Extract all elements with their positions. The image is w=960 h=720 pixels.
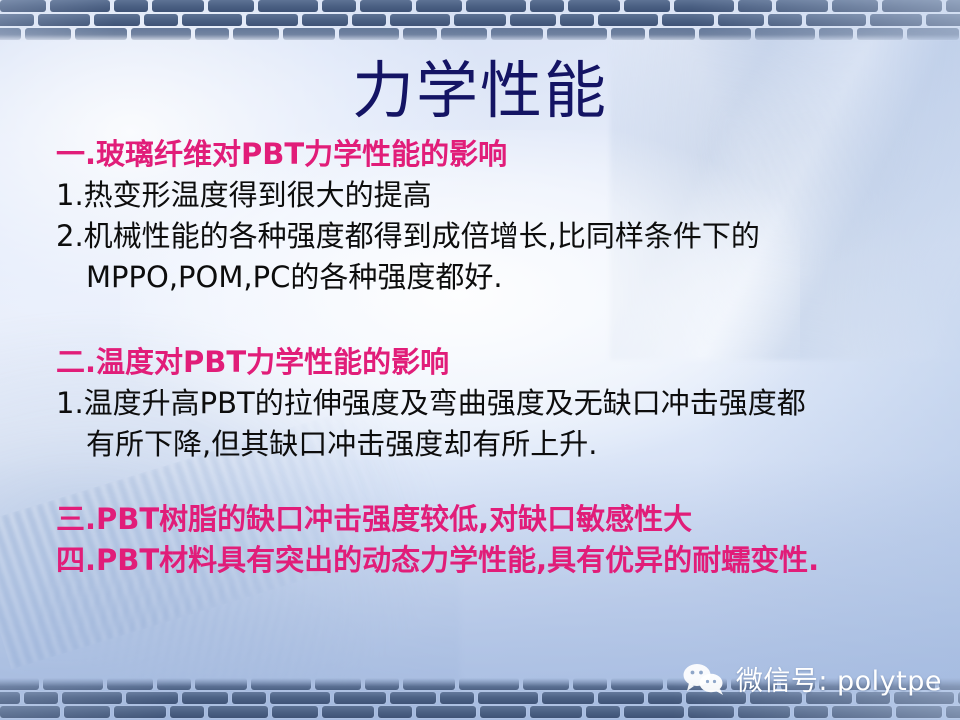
slide-content: 力学性能 一.玻璃纤维对PBT力学性能的影响 1.热变形温度得到很大的提高 2.… xyxy=(0,0,960,720)
section-1-item-1: 1.热变形温度得到很大的提高 xyxy=(56,175,936,216)
section-spacer xyxy=(56,298,936,342)
wechat-watermark: 微信号: polytpe xyxy=(682,659,942,698)
section-2-heading: 二.温度对PBT力学性能的影响 xyxy=(56,342,936,383)
wechat-icon xyxy=(682,662,726,696)
slide: 力学性能 一.玻璃纤维对PBT力学性能的影响 1.热变形温度得到很大的提高 2.… xyxy=(0,0,960,720)
closing-heading-4: 四.PBT材料具有突出的动态力学性能,具有优异的耐蠕变性. xyxy=(56,540,936,581)
section-1-item-3: MPPO,POM,PC的各种强度都好. xyxy=(56,257,936,298)
page-title: 力学性能 xyxy=(0,58,960,123)
section-1-heading: 一.玻璃纤维对PBT力学性能的影响 xyxy=(56,134,936,175)
closing-heading-3: 三.PBT树脂的缺口冲击强度较低,对缺口敏感性大 xyxy=(56,499,936,540)
wechat-id-label: 微信号: polytpe xyxy=(736,659,942,698)
section-2-item-1: 1.温度升高PBT的拉伸强度及弯曲强度及无缺口冲击强度都 xyxy=(56,383,936,424)
section-spacer xyxy=(56,465,936,499)
section-1-item-2: 2.机械性能的各种强度都得到成倍增长,比同样条件下的 xyxy=(56,216,936,257)
slide-body: 一.玻璃纤维对PBT力学性能的影响 1.热变形温度得到很大的提高 2.机械性能的… xyxy=(56,134,936,581)
section-2-item-2: 有所下降,但其缺口冲击强度却有所上升. xyxy=(56,424,936,465)
